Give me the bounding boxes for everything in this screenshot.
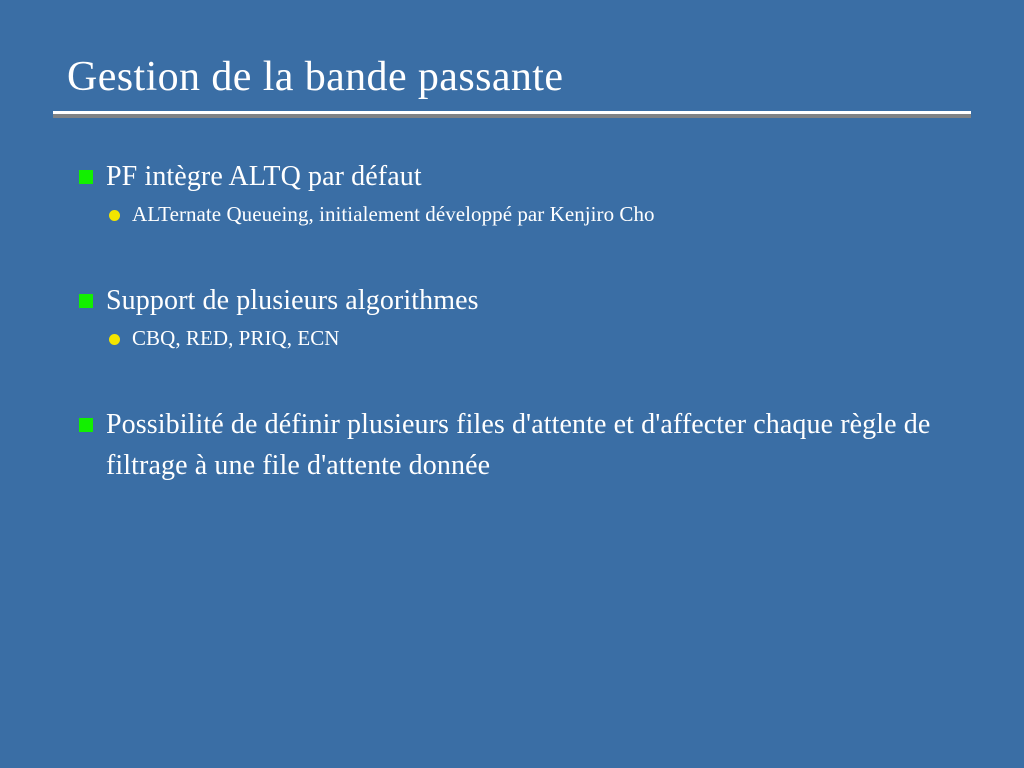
bullet-group: PF intègre ALTQ par défaut ALTernate Que…: [70, 156, 970, 230]
bullet-item-level1-label: Possibilité de définir plusieurs files d…: [106, 409, 930, 481]
bullet-item-level1-label: PF intègre ALTQ par défaut: [106, 161, 422, 192]
bullet-item-level2: CBQ, RED, PRIQ, ECN: [70, 323, 970, 354]
dot-bullet-icon: [109, 334, 120, 345]
group-spacer: [70, 258, 970, 280]
bullet-item-level1: Support de plusieurs algorithmes: [70, 280, 970, 321]
bullet-item-level1-label: Support de plusieurs algorithmes: [106, 285, 479, 316]
title-underline-rule: [53, 111, 971, 114]
slide-title-block: Gestion de la bande passante: [53, 52, 971, 114]
square-bullet-icon: [79, 418, 93, 432]
presentation-slide: Gestion de la bande passante PF intègre …: [0, 0, 1024, 768]
square-bullet-icon: [79, 294, 93, 308]
bullet-item-level2-label: ALTernate Queueing, initialement dévelop…: [132, 202, 655, 226]
bullet-item-level2: ALTernate Queueing, initialement dévelop…: [70, 199, 970, 230]
bullet-group: Support de plusieurs algorithmes CBQ, RE…: [70, 280, 970, 354]
bullet-item-level2-label: CBQ, RED, PRIQ, ECN: [132, 326, 339, 350]
dot-bullet-icon: [109, 210, 120, 221]
group-spacer: [70, 382, 970, 404]
bullet-group: Possibilité de définir plusieurs files d…: [70, 404, 970, 486]
bullet-item-level1: PF intègre ALTQ par défaut: [70, 156, 970, 197]
square-bullet-icon: [79, 170, 93, 184]
bullet-item-level1: Possibilité de définir plusieurs files d…: [70, 404, 970, 486]
page-title: Gestion de la bande passante: [53, 52, 971, 102]
slide-body: PF intègre ALTQ par défaut ALTernate Que…: [70, 156, 970, 486]
